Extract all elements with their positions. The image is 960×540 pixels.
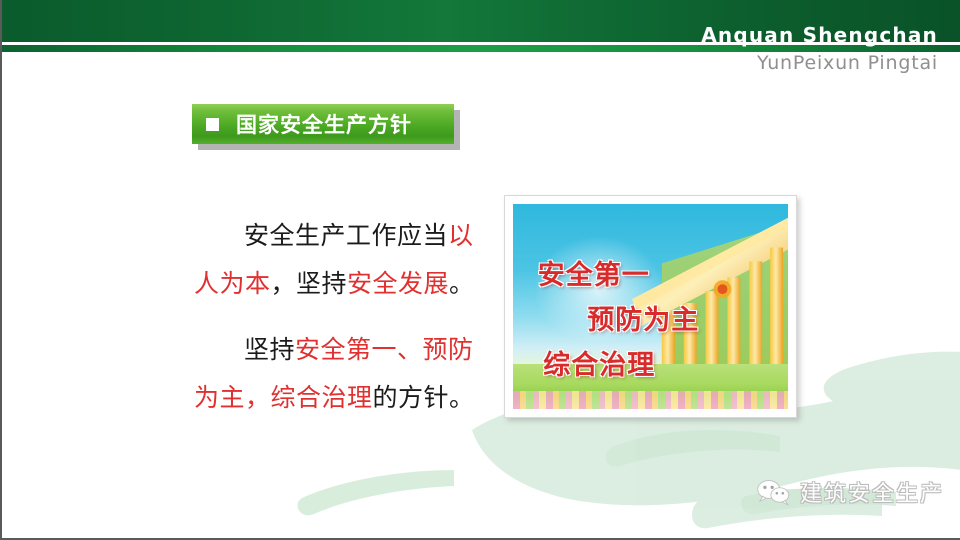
poster-image: 安全第一 预防为主 综合治理 <box>513 204 788 409</box>
header-subtitle: YunPeixun Pingtai <box>757 52 938 74</box>
poster-image-frame: 安全第一 预防为主 综合治理 <box>504 195 797 418</box>
p1-seg-4: 安全发展 <box>347 269 449 298</box>
section-title-plate: 国家安全生产方针 <box>192 104 454 144</box>
page-title: 国家安全生产方针 <box>236 109 412 139</box>
watermark: 建筑安全生产 <box>756 476 944 508</box>
p1-seg-1: 安全生产工作应当 <box>244 221 448 250</box>
poster-line-3: 综合治理 <box>543 343 655 382</box>
body-copy: 安全生产工作应当以人为本，坚持安全发展。 坚持安全第一、预防为主，综合治理的方针… <box>194 212 494 422</box>
p2-seg-1: 坚持 <box>244 335 295 364</box>
section-title-box: 国家安全生产方针 <box>192 104 454 144</box>
p1-seg-3: ，坚持 <box>271 269 348 298</box>
paragraph-1: 安全生产工作应当以人为本，坚持安全发展。 <box>194 212 494 308</box>
square-bullet-icon <box>206 118 219 131</box>
header-title: Anquan Shengchan <box>701 23 938 47</box>
p2-seg-3: 的方针。 <box>373 383 475 412</box>
p1-seg-5: 。 <box>449 269 475 298</box>
slide: Anquan Shengchan YunPeixun Pingtai 国家安全生… <box>0 0 960 540</box>
poster-line-2: 预防为主 <box>587 298 699 337</box>
paragraph-2: 坚持安全第一、预防为主，综合治理的方针。 <box>194 326 494 422</box>
poster-text-group: 安全第一 预防为主 综合治理 <box>513 204 788 409</box>
watermark-text: 建筑安全生产 <box>800 476 944 508</box>
wechat-icon <box>756 478 790 506</box>
poster-line-1: 安全第一 <box>538 253 650 292</box>
